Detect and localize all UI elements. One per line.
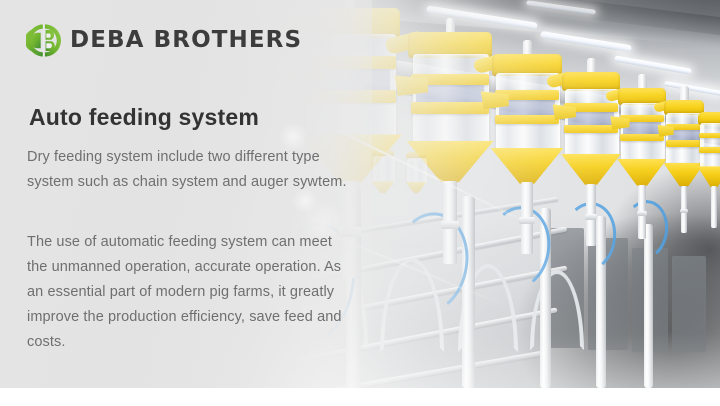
bottom-white-strip <box>0 388 720 406</box>
auto-feeding-system-banner: DEBA BROTHERS Auto feeding system Dry fe… <box>0 0 720 406</box>
deba-db-monogram-icon <box>26 23 61 58</box>
description-paragraph-1: Dry feeding system include two different… <box>27 145 351 195</box>
text-panel: DEBA BROTHERS Auto feeding system Dry fe… <box>0 0 372 388</box>
brand-wordmark: DEBA BROTHERS <box>70 29 302 52</box>
description-paragraph-2: The use of automatic feeding system can … <box>27 230 351 355</box>
page-title: Auto feeding system <box>29 105 259 130</box>
banner-artboard: DEBA BROTHERS Auto feeding system Dry fe… <box>0 0 720 388</box>
brand-logo[interactable]: DEBA BROTHERS <box>26 23 302 58</box>
